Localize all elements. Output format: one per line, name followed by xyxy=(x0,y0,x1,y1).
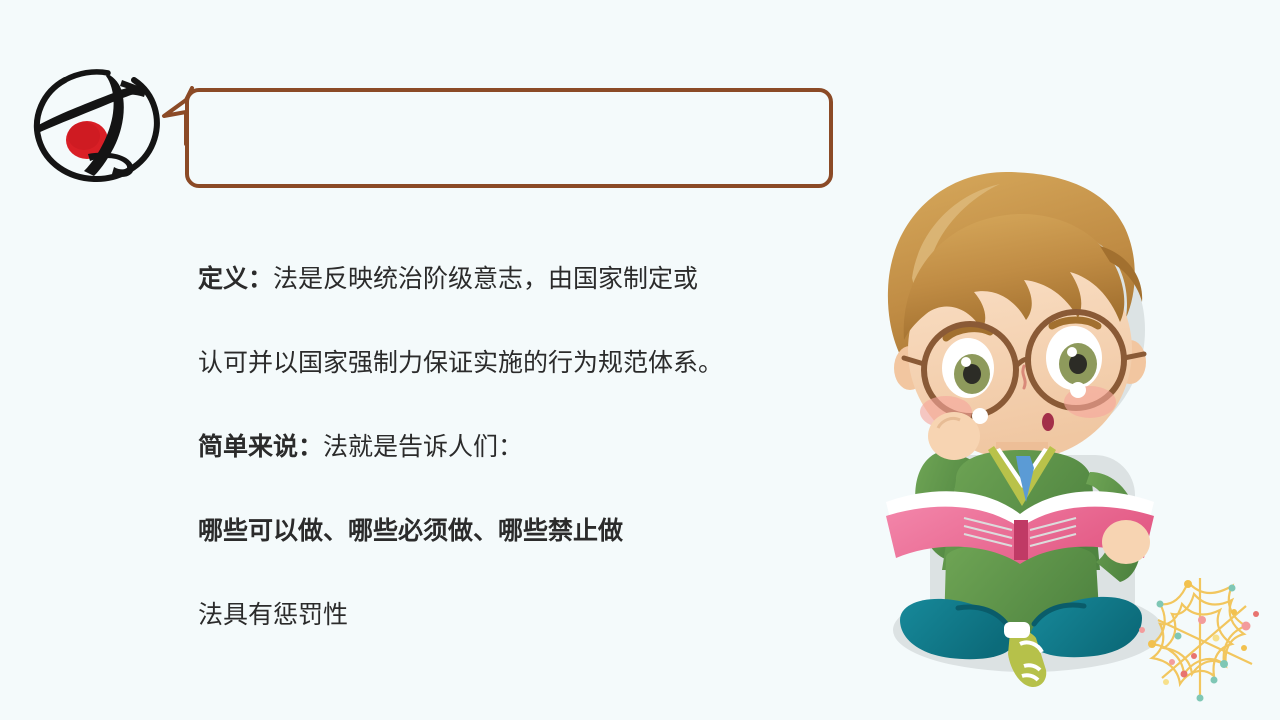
content-line-rest: 法就是告诉人们： xyxy=(323,434,523,461)
content-line-rest: 哪些可以做、哪些必须做、哪些禁止做 xyxy=(198,518,623,545)
content-line-rest: 法是反映统治阶级意志，由国家制定或 xyxy=(273,266,698,293)
slide-canvas: 什么是法？与未成年人相关的法律有哪些？ 定义：法是反映统治阶级意志，由国家制定或… xyxy=(0,0,1280,720)
content-line: 认可并以国家强制力保证实施的行为规范体系。 xyxy=(198,322,818,406)
content-body: 定义：法是反映统治阶级意志，由国家制定或 认可并以国家强制力保证实施的行为规范体… xyxy=(198,238,818,658)
content-line: 法具有惩罚性 xyxy=(198,574,818,658)
content-line: 简单来说：法就是告诉人们： xyxy=(198,406,818,490)
star-confetti-ornament xyxy=(1128,560,1280,720)
content-line-rest: 认可并以国家强制力保证实施的行为规范体系。 xyxy=(198,350,723,377)
page-title: 什么是法？与未成年人相关的法律有哪些？ xyxy=(205,113,766,155)
content-line: 哪些可以做、哪些必须做、哪些禁止做 xyxy=(198,490,818,574)
content-line-lead: 定义： xyxy=(198,266,273,293)
content-line-lead: 简单来说： xyxy=(198,434,323,461)
content-line: 定义：法是反映统治阶级意志，由国家制定或 xyxy=(198,238,818,322)
content-line-rest: 法具有惩罚性 xyxy=(198,602,348,629)
calligraphy-fa-seal-logo xyxy=(22,58,170,190)
